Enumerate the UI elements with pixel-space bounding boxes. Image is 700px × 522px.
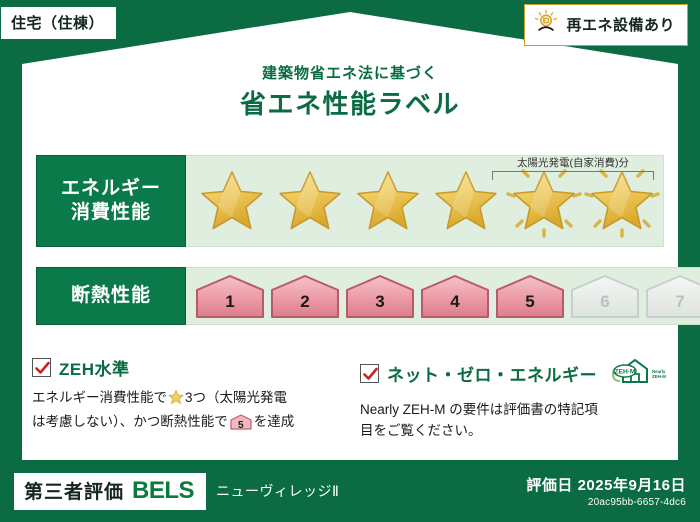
footer-bar: 第三者評価 BELS ニューヴィレッジⅡ 評価日 2025年9月16日 20ac… bbox=[0, 460, 700, 522]
evaluation-info: 評価日 2025年9月16日 20ac95bb-6657-4dc6 bbox=[526, 474, 686, 508]
star-list bbox=[186, 166, 660, 240]
label-subtitle: 建築物省エネ法に基づく bbox=[0, 62, 700, 83]
evaluation-date: 評価日 2025年9月16日 bbox=[526, 474, 686, 495]
criterion-header: ネット・ゼロ・エネルギー ZEH·M Nearly ZEH-M bbox=[360, 355, 660, 392]
evaluation-id: 20ac95bb-6657-4dc6 bbox=[526, 497, 686, 508]
property-name: ニューヴィレッジⅡ bbox=[216, 481, 339, 501]
bels-certification-box: 第三者評価 BELS bbox=[14, 473, 206, 510]
star-icon bbox=[350, 166, 426, 240]
criterion-zeh-standard: ZEH水準 エネルギー消費性能で3つ（太陽光発電 は考慮しない）、かつ断熱性能で… bbox=[32, 355, 332, 433]
net-zero-energy-description: Nearly ZEH-M の要件は評価書の特記項 目をご覧ください。 bbox=[360, 400, 660, 442]
energy-performance-label: エネルギー 消費性能 bbox=[36, 155, 186, 247]
insulation-grade-badge: 2 bbox=[269, 273, 341, 319]
grade-list: 1234567 bbox=[186, 273, 700, 319]
bels-label: 第三者評価 bbox=[24, 477, 124, 504]
insulation-grade-number: 4 bbox=[419, 292, 491, 312]
star-icon bbox=[584, 166, 660, 240]
insulation-grade-badge: 3 bbox=[344, 273, 416, 319]
criterion-net-zero-energy: ネット・ゼロ・エネルギー ZEH·M Nearly ZEH-M Nearly Z… bbox=[360, 355, 660, 442]
star-icon bbox=[194, 166, 270, 240]
insulation-grade-scale: 1234567 bbox=[186, 267, 700, 325]
net-zero-energy-checkbox[interactable] bbox=[360, 364, 379, 383]
zeh-standard-checkbox[interactable] bbox=[32, 358, 51, 377]
bels-mark: BELS bbox=[132, 477, 194, 505]
insulation-grade-badge: 5 bbox=[494, 273, 566, 319]
inline-grade-badge: 5 bbox=[230, 414, 252, 430]
zeh-m-logo-text: ZEH·M bbox=[615, 369, 636, 376]
zeh-standard-description: エネルギー消費性能で3つ（太陽光発電 は考慮しない）、かつ断熱性能で5を達成 bbox=[32, 388, 332, 433]
insulation-grade-number: 6 bbox=[569, 292, 641, 312]
insulation-grade-number: 7 bbox=[644, 292, 700, 312]
zeh-m-logo-sub2: ZEH-M bbox=[652, 374, 666, 379]
insulation-grade-badge: 4 bbox=[419, 273, 491, 319]
energy-star-rating: 太陽光発電(自家消費)分 bbox=[186, 155, 664, 247]
solar-sun-icon bbox=[533, 9, 559, 40]
insulation-grade-number: 3 bbox=[344, 292, 416, 312]
renewable-equipment-badge: 再エネ設備あり bbox=[524, 4, 688, 46]
star-icon bbox=[506, 166, 582, 240]
inline-star-icon bbox=[168, 389, 184, 412]
zeh-standard-title: ZEH水準 bbox=[59, 355, 130, 380]
insulation-performance-row: 断熱性能 1234567 bbox=[36, 267, 664, 325]
insulation-grade-badge: 1 bbox=[194, 273, 266, 319]
insulation-grade-number: 5 bbox=[494, 292, 566, 312]
bels-energy-label: 住宅（住棟） 再エネ設備あり 建築物省エネ法に基づく 省エネ性能ラベル bbox=[0, 0, 700, 522]
page-title: 省エネ性能ラベル bbox=[0, 84, 700, 121]
insulation-grade-badge: 6 bbox=[569, 273, 641, 319]
criterion-header: ZEH水準 bbox=[32, 355, 332, 380]
energy-performance-row: エネルギー 消費性能 太陽光発電(自家消費)分 bbox=[36, 155, 664, 247]
star-icon bbox=[272, 166, 348, 240]
star-icon bbox=[428, 166, 504, 240]
net-zero-energy-title: ネット・ゼロ・エネルギー bbox=[387, 361, 597, 386]
zeh-m-house-logo: ZEH·M Nearly ZEH-M bbox=[611, 355, 669, 392]
renewable-badge-label: 再エネ設備あり bbox=[566, 14, 675, 35]
building-type-label: 住宅（住棟） bbox=[11, 15, 104, 32]
insulation-grade-number: 2 bbox=[269, 292, 341, 312]
insulation-grade-number: 1 bbox=[194, 292, 266, 312]
insulation-grade-badge: 7 bbox=[644, 273, 700, 319]
insulation-performance-label: 断熱性能 bbox=[36, 267, 186, 325]
building-type-tab: 住宅（住棟） bbox=[0, 6, 117, 40]
